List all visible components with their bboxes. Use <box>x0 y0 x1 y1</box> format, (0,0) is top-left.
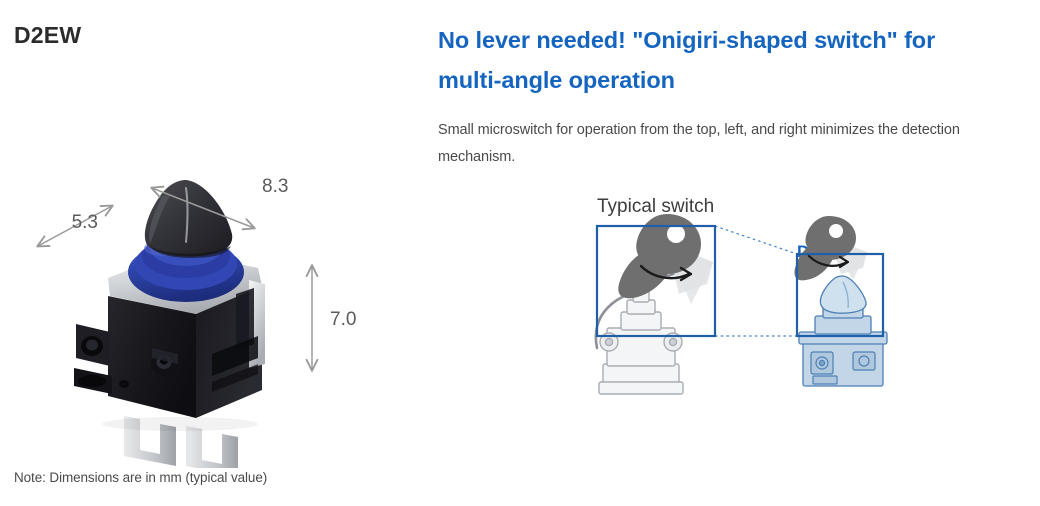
subcopy: Small microswitch for operation from the… <box>438 117 990 171</box>
typical-switch-graphic <box>596 214 715 394</box>
intro-text-column: No lever needed! "Onigiri-shaped switch"… <box>438 20 990 170</box>
switch-photo-graphic <box>74 180 265 468</box>
dimensions-note: Note: Dimensions are in mm (typical valu… <box>14 470 267 485</box>
dimension-label-width: 8.3 <box>262 176 288 197</box>
product-photo-illustration: 8.3 5.3 7.0 <box>0 168 420 468</box>
headline: No lever needed! "Onigiri-shaped switch"… <box>438 20 990 101</box>
switch-actuator-cap <box>145 180 232 258</box>
comparison-diagram-illustration <box>575 196 915 406</box>
page-title: D2EW <box>14 22 81 49</box>
d2ew-switch-graphic <box>794 216 887 386</box>
dimension-label-depth: 5.3 <box>72 212 98 233</box>
product-photo-block: 8.3 5.3 7.0 <box>0 168 420 468</box>
switch-shadow <box>102 417 258 431</box>
switch-notch <box>119 380 129 388</box>
switch-left-mount-boss <box>74 324 112 394</box>
comparison-diagram: Typical switch D2EW <box>575 196 915 406</box>
diagram-connectors <box>715 226 797 336</box>
d2ew-onigiri-actuator <box>820 276 866 313</box>
dimension-label-height: 7.0 <box>330 309 356 330</box>
